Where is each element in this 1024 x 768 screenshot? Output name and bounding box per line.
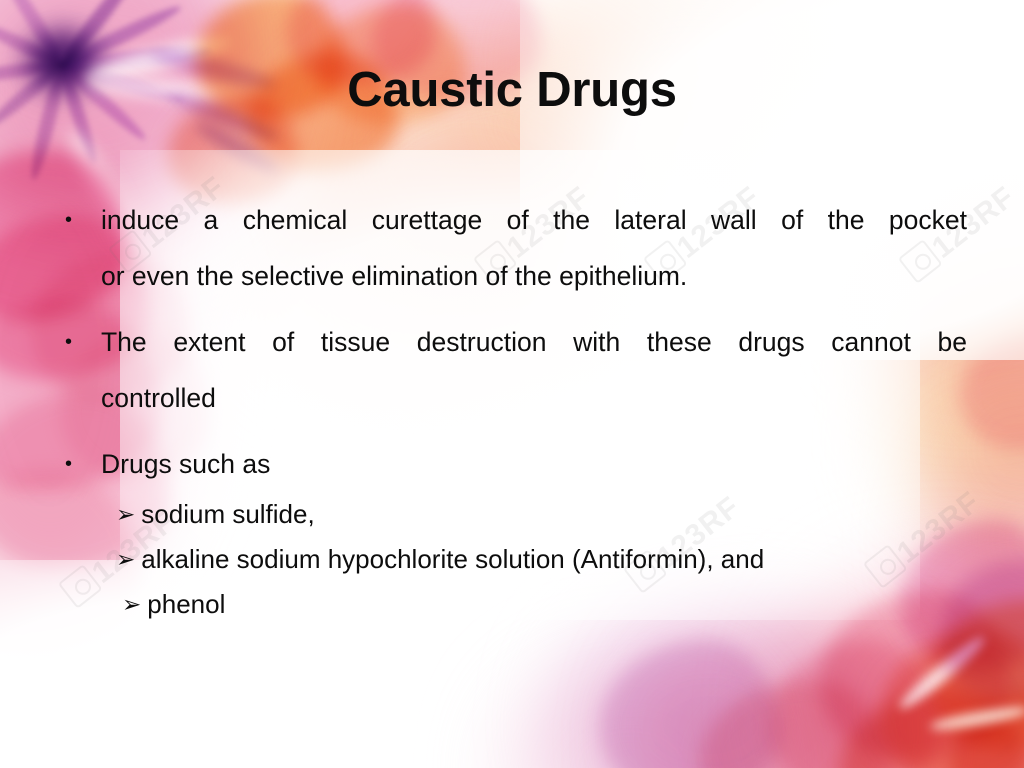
sub-bullet-text: phenol [147, 582, 225, 627]
body-content: • induce a chemical curettage of the lat… [62, 192, 967, 627]
bullet-marker-icon: • [62, 192, 101, 248]
list-item: ➢ sodium sulfide, [62, 492, 967, 537]
sub-bullet-text: sodium sulfide, [141, 492, 314, 537]
bullet-text: induce a chemical curettage of the later… [101, 192, 967, 304]
sub-bullet-text: alkaline sodium hypochlorite solution (A… [141, 537, 764, 582]
arrowhead-bullet-icon: ➢ [116, 492, 135, 537]
sub-bullet-list: ➢ sodium sulfide, ➢ alkaline sodium hypo… [62, 492, 967, 627]
list-item: ➢ phenol [62, 582, 967, 627]
arrowhead-bullet-icon: ➢ [116, 537, 135, 582]
bullet-line: The extent of tissue destruction with th… [101, 314, 967, 370]
arrowhead-bullet-icon: ➢ [122, 582, 141, 627]
slide-canvas: 123RF 123RF 123RF 123RF 123RF 123RF 123R… [0, 0, 1024, 768]
bullet-item: • induce a chemical curettage of the lat… [62, 192, 967, 304]
slide-content: Caustic Drugs • induce a chemical curett… [0, 0, 1024, 768]
list-item: ➢ alkaline sodium hypochlorite solution … [62, 537, 967, 582]
page-title: Caustic Drugs [0, 62, 1024, 118]
bullet-item: • Drugs such as [62, 436, 967, 492]
bullet-text: The extent of tissue destruction with th… [101, 314, 967, 426]
bullet-line: induce a chemical curettage of the later… [101, 192, 967, 248]
bullet-text: Drugs such as [101, 436, 967, 492]
bullet-line: or even the selective elimination of the… [101, 248, 967, 304]
bullet-item: • The extent of tissue destruction with … [62, 314, 967, 426]
bullet-marker-icon: • [62, 436, 101, 492]
bullet-marker-icon: • [62, 314, 101, 370]
bullet-line: controlled [101, 370, 967, 426]
